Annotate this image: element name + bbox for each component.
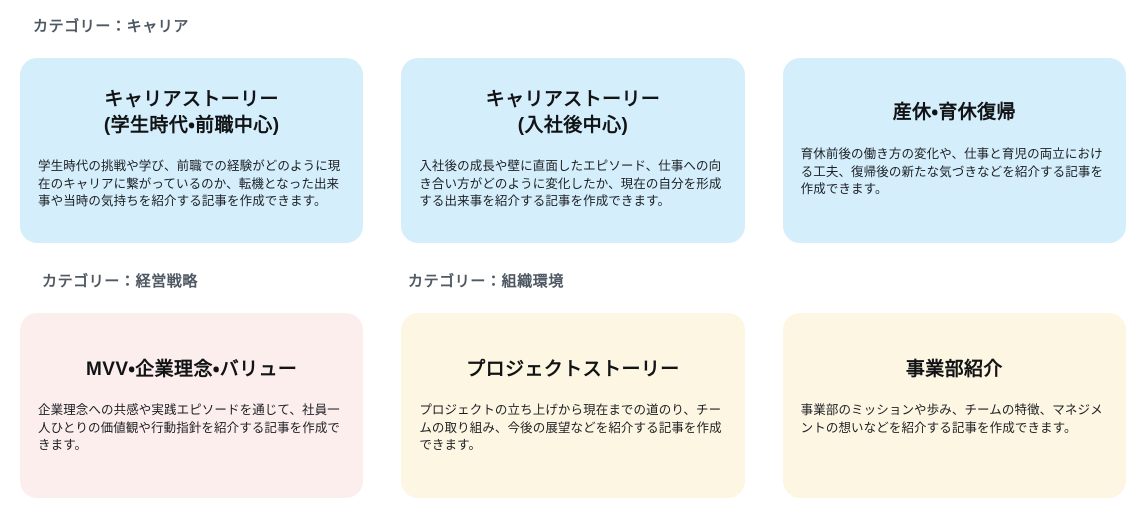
card-description: 入社後の成長や壁に直面したエピソード、仕事への向き合い方がどのように変化したか、… (419, 158, 726, 211)
category-label-career: カテゴリー：キャリア (33, 17, 189, 37)
card-mvv-philosophy-value[interactable]: MVV・企業理念・バリュー 企業理念への共感や実践エピソードを通じて、社員一人ひ… (20, 313, 363, 498)
card-description: 学生時代の挑戦や学び、前職での経験がどのように現在のキャリアに繋がっているのか、… (38, 158, 345, 211)
card-title: 事業部紹介 (801, 357, 1108, 383)
card-title: プロジェクトストーリー (419, 357, 726, 383)
card-title: 産休・育休復帰 (801, 100, 1108, 126)
category-label-organization: カテゴリー：組織環境 (408, 272, 564, 292)
card-career-story-after-joining[interactable]: キャリアストーリー (入社後中心) 入社後の成長や壁に直面したエピソード、仕事へ… (401, 58, 744, 243)
card-description: プロジェクトの立ち上げから現在までの道のり、チームの取り組み、今後の展望などを紹… (419, 402, 726, 455)
card-career-story-student[interactable]: キャリアストーリー (学生時代・前職中心) 学生時代の挑戦や学び、前職での経験が… (20, 58, 363, 243)
card-row-strategy-organization: MVV・企業理念・バリュー 企業理念への共感や実践エピソードを通じて、社員一人ひ… (20, 313, 1126, 498)
card-title: MVV・企業理念・バリュー (38, 357, 345, 383)
card-division-introduction[interactable]: 事業部紹介 事業部のミッションや歩み、チームの特徴、マネジメントの想いなどを紹介… (783, 313, 1126, 498)
card-row-career: キャリアストーリー (学生時代・前職中心) 学生時代の挑戦や学び、前職での経験が… (20, 58, 1126, 243)
card-maternity-parental-leave-return[interactable]: 産休・育休復帰 育休前後の働き方の変化や、仕事と育児の両立における工夫、復帰後の… (783, 58, 1126, 243)
card-description: 育休前後の働き方の変化や、仕事と育児の両立における工夫、復帰後の新たな気づきなど… (801, 146, 1108, 199)
card-title: キャリアストーリー (学生時代・前職中心) (38, 87, 345, 139)
card-project-story[interactable]: プロジェクトストーリー プロジェクトの立ち上げから現在までの道のり、チームの取り… (401, 313, 744, 498)
card-title: キャリアストーリー (入社後中心) (419, 87, 726, 139)
category-card-board: カテゴリー：キャリア カテゴリー：経営戦略 カテゴリー：組織環境 キャリアストー… (0, 0, 1146, 518)
card-description: 企業理念への共感や実践エピソードを通じて、社員一人ひとりの価値観や行動指針を紹介… (38, 402, 345, 455)
card-description: 事業部のミッションや歩み、チームの特徴、マネジメントの想いなどを紹介する記事を作… (801, 402, 1108, 437)
category-label-strategy: カテゴリー：経営戦略 (42, 272, 198, 292)
